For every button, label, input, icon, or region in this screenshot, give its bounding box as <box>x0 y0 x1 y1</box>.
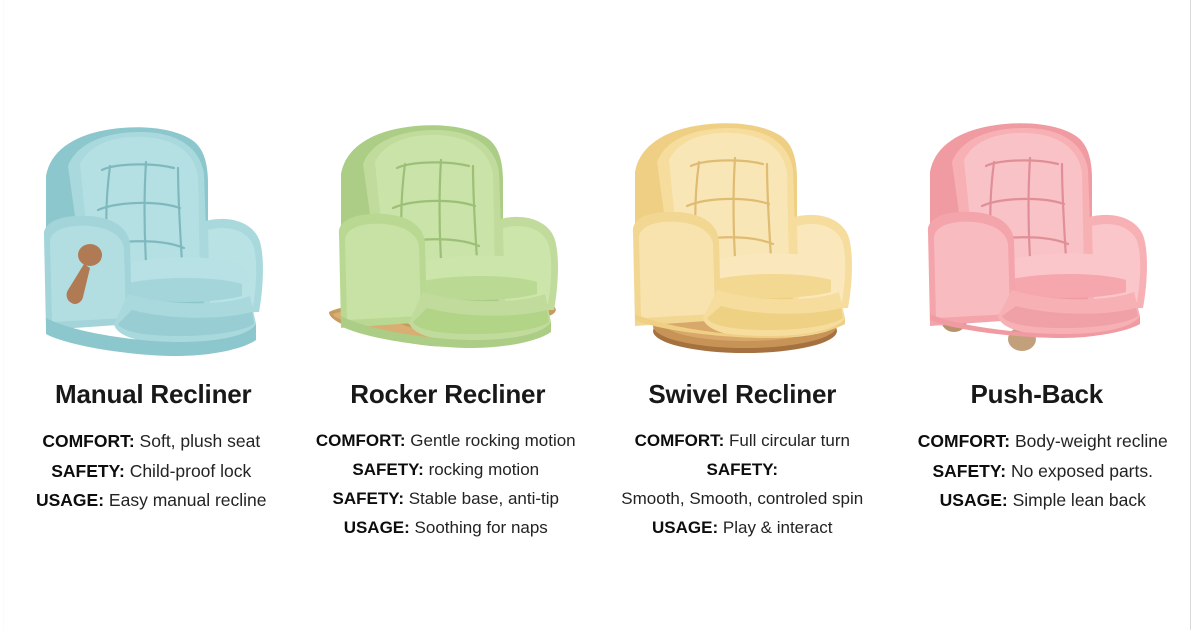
spec-value: Full circular turn <box>729 431 850 450</box>
rocker-recliner-chair-icon <box>323 118 573 363</box>
spec-value: No exposed parts. <box>1011 461 1153 481</box>
spec-value: Gentle rocking motion <box>410 431 575 450</box>
spec-value: Body-weight recline <box>1015 431 1168 451</box>
spec-safety: SAFETY: <box>707 459 778 482</box>
swivel-recliner-chair-icon <box>617 118 867 363</box>
spec-value: Easy manual recline <box>109 490 267 510</box>
right-edge-rule <box>1190 0 1191 630</box>
spec-key: SAFETY: <box>333 489 404 508</box>
spec-comfort: COMFORT: Soft, plush seat <box>42 430 260 454</box>
spec-value: Soothing for naps <box>415 518 548 537</box>
spec-list: COMFORT: Soft, plush seat SAFETY: Child-… <box>4 430 299 513</box>
spec-key: COMFORT: <box>42 431 134 451</box>
spec-list: COMFORT: Gentle rocking motion SAFETY: r… <box>299 430 594 540</box>
recliner-comparison-grid: Manual Recliner COMFORT: Soft, plush sea… <box>0 0 1190 630</box>
spec-key: USAGE: <box>940 490 1008 510</box>
spec-safety-1: SAFETY: rocking motion <box>352 459 539 482</box>
spec-value: Soft, plush seat <box>140 431 261 451</box>
spec-usage: USAGE: Play & interact <box>652 517 832 540</box>
spec-safety: SAFETY: Child-proof lock <box>51 460 251 484</box>
spec-key: USAGE: <box>36 490 104 510</box>
recliner-card-swivel: Swivel Recliner COMFORT: Full circular t… <box>595 0 890 630</box>
spec-key: SAFETY: <box>352 460 423 479</box>
push-back-chair-icon <box>912 118 1162 363</box>
spec-value: rocking motion <box>429 460 540 479</box>
spec-safety-detail: Smooth, Smooth, controled spin <box>621 488 863 511</box>
spec-key: SAFETY: <box>51 461 125 481</box>
spec-value: Play & interact <box>723 518 833 537</box>
infographic-canvas: Manual Recliner COMFORT: Soft, plush sea… <box>0 0 1200 630</box>
chair-title: Push-Back <box>970 379 1103 410</box>
spec-comfort: COMFORT: Body-weight recline <box>918 430 1168 454</box>
spec-key: USAGE: <box>344 518 410 537</box>
chair-title: Swivel Recliner <box>648 379 836 410</box>
spec-key: COMFORT: <box>316 431 406 450</box>
spec-list: COMFORT: Body-weight recline SAFETY: No … <box>896 430 1191 513</box>
spec-safety-2: SAFETY: Stable base, anti-tip <box>333 488 559 511</box>
spec-comfort: COMFORT: Full circular turn <box>635 430 850 453</box>
chair-title: Rocker Recliner <box>350 379 545 410</box>
chair-title: Manual Recliner <box>55 379 251 410</box>
spec-usage: USAGE: Soothing for naps <box>344 517 548 540</box>
manual-recliner-chair-icon <box>28 118 278 363</box>
spec-list: COMFORT: Full circular turn SAFETY: Smoo… <box>595 430 890 540</box>
spec-usage: USAGE: Simple lean back <box>940 489 1146 513</box>
recliner-card-rocker: Rocker Recliner COMFORT: Gentle rocking … <box>301 0 596 630</box>
spec-value: Smooth, Smooth, controled spin <box>621 489 863 508</box>
spec-value: Child-proof lock <box>130 461 252 481</box>
spec-key: USAGE: <box>652 518 718 537</box>
spec-key: COMFORT: <box>635 431 725 450</box>
spec-key: COMFORT: <box>918 431 1010 451</box>
spec-value: Simple lean back <box>1013 490 1146 510</box>
spec-key: SAFETY: <box>707 460 778 479</box>
spec-safety: SAFETY: No exposed parts. <box>933 460 1153 484</box>
spec-key: SAFETY: <box>933 461 1007 481</box>
spec-usage: USAGE: Easy manual recline <box>36 489 267 513</box>
recliner-card-manual: Manual Recliner COMFORT: Soft, plush sea… <box>6 0 301 630</box>
spec-value: Stable base, anti-tip <box>409 489 559 508</box>
recliner-card-pushback: Push-Back COMFORT: Body-weight recline S… <box>890 0 1185 630</box>
spec-comfort: COMFORT: Gentle rocking motion <box>316 430 576 453</box>
